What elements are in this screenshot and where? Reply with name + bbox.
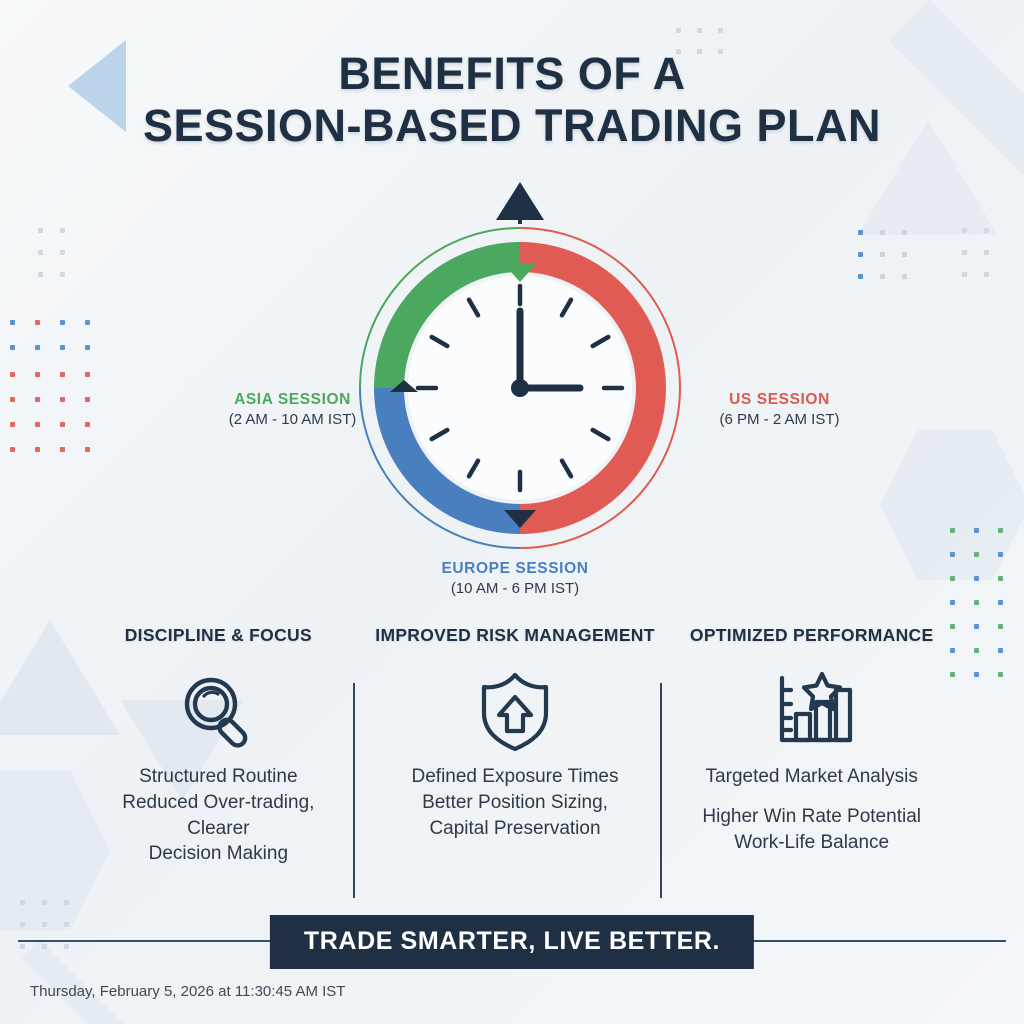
- footer-banner: TRADE SMARTER, LIVE BETTER.: [270, 915, 754, 969]
- decorative-dot: [20, 900, 25, 905]
- title-line-1: BENEFITS OF A: [0, 48, 1024, 100]
- decorative-dot: [998, 672, 1003, 677]
- benefit-body-3: Targeted Market Analysis Higher Win Rate…: [702, 764, 921, 855]
- decorative-dot: [998, 528, 1003, 533]
- decorative-dot: [962, 250, 967, 255]
- benefit-3-spacer: [702, 790, 921, 804]
- benefit-1-line-3: Clearer: [187, 818, 249, 839]
- dot-grid-mid-left: [38, 228, 82, 294]
- decorative-dot: [998, 576, 1003, 581]
- decorative-dot: [974, 528, 979, 533]
- decorative-dot: [42, 900, 47, 905]
- diagonal-band-bottom-left: [22, 940, 146, 1024]
- decorative-dot: [880, 252, 885, 257]
- decorative-dot: [38, 272, 43, 277]
- clock-svg: [340, 178, 700, 558]
- decorative-dot: [998, 600, 1003, 605]
- page-title: BENEFITS OF A SESSION-BASED TRADING PLAN: [0, 48, 1024, 152]
- dot-grid-far-right: [962, 228, 1006, 294]
- decorative-dot: [880, 274, 885, 279]
- decorative-dot: [85, 320, 90, 325]
- decorative-dot: [35, 372, 40, 377]
- benefit-3-line-1: Targeted Market Analysis: [706, 766, 918, 787]
- decorative-dot: [902, 274, 907, 279]
- decorative-dot: [697, 28, 702, 33]
- benefit-1-line-2: Reduced Over-trading,: [122, 792, 314, 813]
- benefit-3-line-3: Higher Win Rate Potential: [702, 806, 921, 827]
- session-time-asia: (2 AM - 10 AM IST): [185, 410, 400, 430]
- benefit-heading-1: DISCIPLINE & FOCUS: [125, 625, 312, 646]
- benefit-heading-2: IMPROVED RISK MANAGEMENT: [375, 625, 654, 646]
- decorative-dot: [85, 345, 90, 350]
- dot-grid-left-upper: [10, 320, 110, 370]
- decorative-dot: [60, 397, 65, 402]
- benefit-2-line-2: Better Position Sizing,: [422, 792, 608, 813]
- title-line-2: SESSION-BASED TRADING PLAN: [0, 100, 1024, 152]
- decorative-dot: [974, 600, 979, 605]
- decorative-dot: [60, 372, 65, 377]
- session-name-us: US SESSION: [672, 390, 887, 409]
- decorative-dot: [858, 230, 863, 235]
- decorative-dot: [858, 274, 863, 279]
- bar-chart-star-icon: [770, 668, 854, 754]
- decorative-dot: [60, 250, 65, 255]
- decorative-dot: [35, 345, 40, 350]
- decorative-dot: [64, 900, 69, 905]
- decorative-dot: [10, 372, 15, 377]
- benefit-column-performance: OPTIMIZED PERFORMANCE Targeted Market An…: [663, 625, 960, 905]
- decorative-dot: [60, 447, 65, 452]
- rotation-arrow-top: [496, 182, 544, 224]
- decorative-dot: [974, 552, 979, 557]
- decorative-dot: [950, 552, 955, 557]
- session-clock-diagram: [340, 178, 700, 558]
- decorative-dot: [85, 372, 90, 377]
- decorative-dot: [60, 272, 65, 277]
- decorative-dot: [676, 28, 681, 33]
- decorative-dot: [902, 252, 907, 257]
- benefit-3-line-4: Work-Life Balance: [734, 832, 889, 853]
- decorative-dot: [10, 422, 15, 427]
- decorative-dot: [42, 944, 47, 949]
- session-label-europe: EUROPE SESSION (10 AM - 6 PM IST): [405, 559, 625, 600]
- benefit-column-risk: IMPROVED RISK MANAGEMENT Defined Exposur…: [367, 625, 664, 905]
- dot-grid-right-upper: [858, 230, 924, 296]
- decorative-dot: [60, 422, 65, 427]
- decorative-dot: [950, 576, 955, 581]
- decorative-dot: [10, 447, 15, 452]
- decorative-dot: [35, 447, 40, 452]
- decorative-dot: [950, 600, 955, 605]
- benefit-body-1: Structured Routine Reduced Over-trading,…: [122, 764, 314, 867]
- session-name-europe: EUROPE SESSION: [405, 559, 625, 578]
- decorative-dot: [42, 922, 47, 927]
- decorative-dot: [998, 624, 1003, 629]
- shield-arrow-icon: [476, 668, 554, 754]
- session-time-us: (6 PM - 2 AM IST): [672, 410, 887, 430]
- decorative-dot: [984, 228, 989, 233]
- session-label-us: US SESSION (6 PM - 2 AM IST): [672, 390, 887, 431]
- decorative-dot: [20, 944, 25, 949]
- decorative-dot: [85, 397, 90, 402]
- infographic-canvas: BENEFITS OF A SESSION-BASED TRADING PLAN: [0, 0, 1024, 1024]
- decorative-dot: [60, 345, 65, 350]
- decorative-dot: [85, 422, 90, 427]
- decorative-dot: [962, 228, 967, 233]
- session-time-europe: (10 AM - 6 PM IST): [405, 579, 625, 599]
- decorative-dot: [64, 922, 69, 927]
- decorative-dot: [974, 672, 979, 677]
- benefit-1-line-4: Decision Making: [149, 843, 288, 864]
- hexagon-decoration-right: [880, 430, 1024, 580]
- decorative-dot: [35, 422, 40, 427]
- decorative-dot: [60, 320, 65, 325]
- decorative-dot: [984, 272, 989, 277]
- decorative-dot: [974, 648, 979, 653]
- session-name-asia: ASIA SESSION: [185, 390, 400, 409]
- benefit-column-discipline: DISCIPLINE & FOCUS Structured Routine Re…: [70, 625, 367, 905]
- decorative-dot: [38, 228, 43, 233]
- timestamp-label: Thursday, February 5, 2026 at 11:30:45 A…: [30, 983, 345, 1000]
- dot-grid-right: [950, 528, 1022, 696]
- decorative-dot: [60, 228, 65, 233]
- session-label-asia: ASIA SESSION (2 AM - 10 AM IST): [185, 390, 400, 431]
- decorative-dot: [20, 922, 25, 927]
- decorative-dot: [64, 944, 69, 949]
- benefits-section: DISCIPLINE & FOCUS Structured Routine Re…: [70, 625, 960, 905]
- decorative-dot: [35, 397, 40, 402]
- decorative-dot: [998, 552, 1003, 557]
- decorative-dot: [950, 528, 955, 533]
- decorative-dot: [962, 272, 967, 277]
- benefit-2-line-1: Defined Exposure Times: [412, 766, 619, 787]
- decorative-dot: [10, 345, 15, 350]
- decorative-dot: [974, 576, 979, 581]
- decorative-dot: [10, 320, 15, 325]
- dot-grid-bottom-left: [20, 900, 86, 966]
- benefit-2-line-3: Capital Preservation: [429, 818, 600, 839]
- dot-grid-left-lower: [10, 372, 110, 472]
- decorative-dot: [35, 320, 40, 325]
- decorative-dot: [10, 397, 15, 402]
- clock-center-pin: [511, 379, 529, 397]
- decorative-dot: [718, 28, 723, 33]
- benefit-1-line-1: Structured Routine: [139, 766, 297, 787]
- decorative-dot: [998, 648, 1003, 653]
- decorative-dot: [858, 252, 863, 257]
- benefit-body-2: Defined Exposure Times Better Position S…: [412, 764, 619, 841]
- magnifier-icon: [178, 668, 258, 754]
- benefit-heading-3: OPTIMIZED PERFORMANCE: [690, 625, 934, 646]
- decorative-dot: [974, 624, 979, 629]
- decorative-dot: [880, 230, 885, 235]
- decorative-dot: [85, 447, 90, 452]
- decorative-dot: [38, 250, 43, 255]
- decorative-dot: [984, 250, 989, 255]
- decorative-dot: [902, 230, 907, 235]
